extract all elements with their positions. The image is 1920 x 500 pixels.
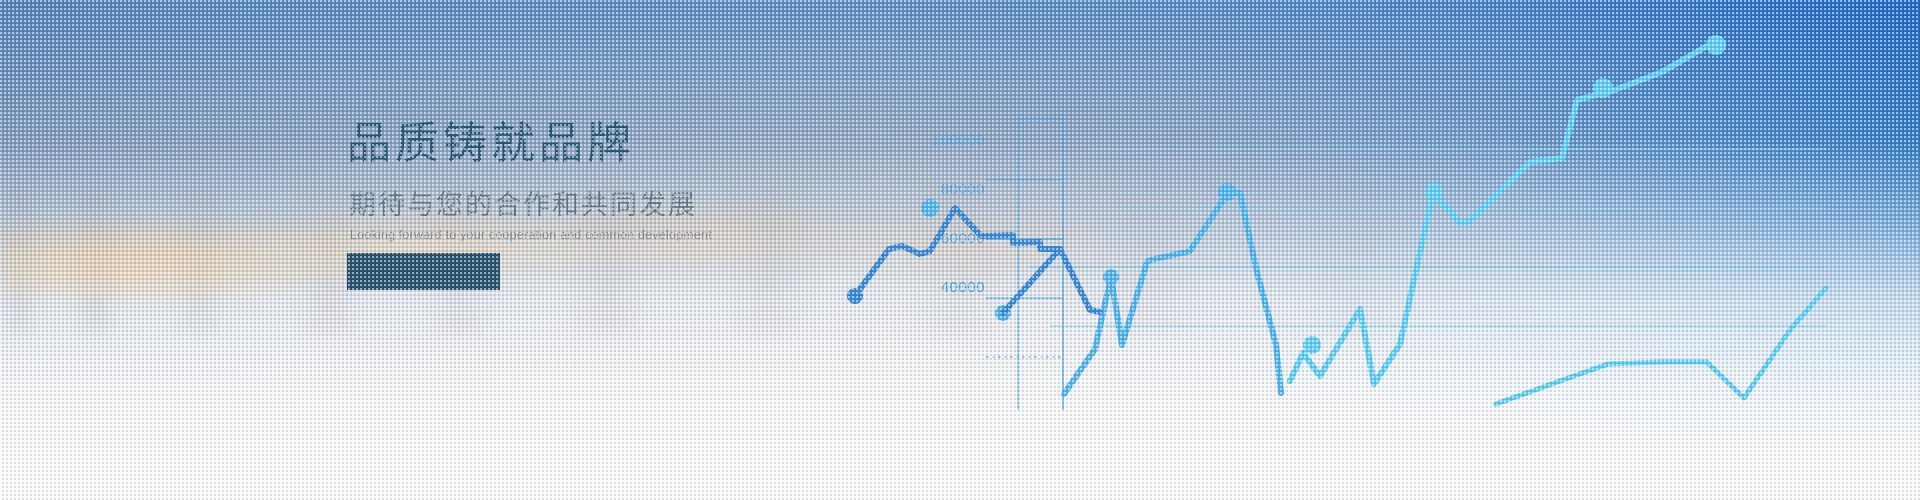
page-title: 品质铸就品牌: [347, 120, 907, 168]
hero-banner: 100000 80000 60000 40000 品质铸就: [0, 0, 1920, 500]
subtitle-en: Looking forward to your cooperation and …: [350, 228, 907, 242]
copy-block: 品质铸就品牌 期待与您的合作和共同发展 Looking forward to y…: [347, 120, 907, 242]
cta-button[interactable]: [347, 253, 500, 290]
subtitle-cn: 期待与您的合作和共同发展: [349, 190, 907, 221]
